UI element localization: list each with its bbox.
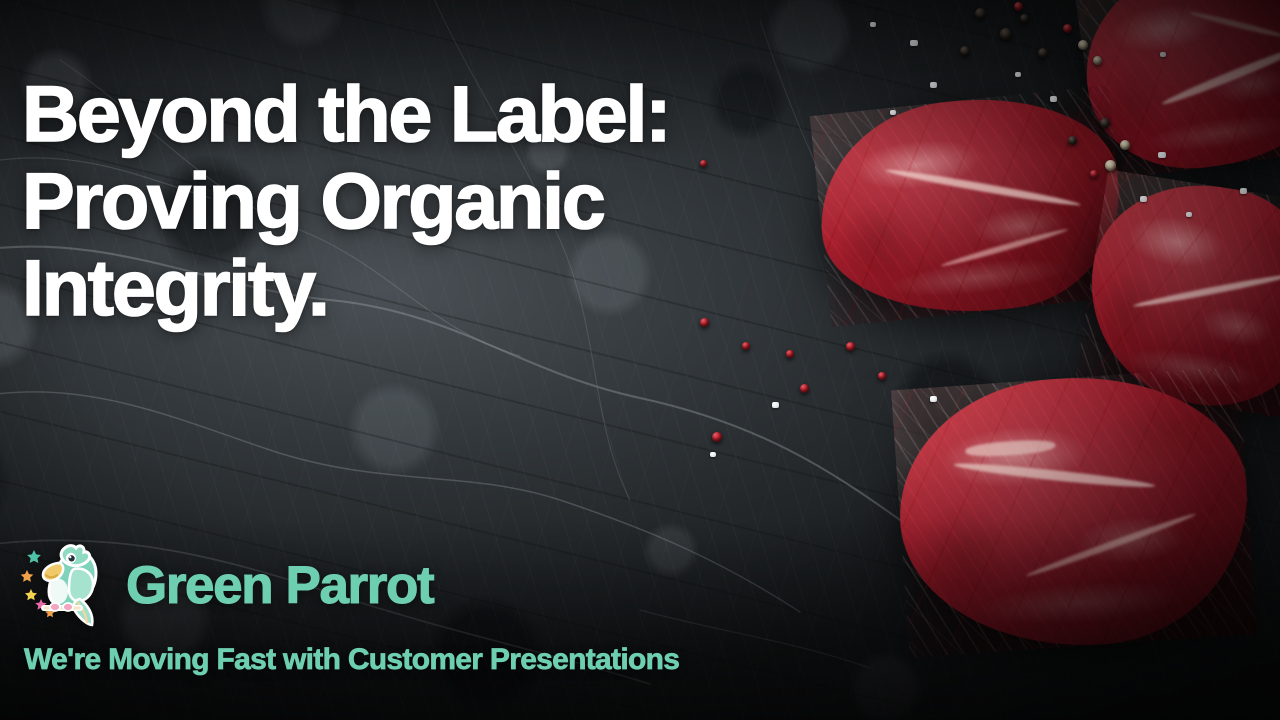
parrot-logo-icon <box>18 537 114 633</box>
tagline: We're Moving Fast with Customer Presenta… <box>24 643 679 677</box>
headline-line-2: Proving Organic <box>22 157 862 244</box>
headline-line-1: Beyond the Label: <box>22 70 862 157</box>
brand-name: Green Parrot <box>126 555 433 616</box>
headline-line-3: Integrity. <box>22 244 862 331</box>
brand-logo-block: Green Parrot <box>18 537 433 633</box>
title-slide: Beyond the Label: Proving Organic Integr… <box>0 0 1280 720</box>
page-title: Beyond the Label: Proving Organic Integr… <box>22 70 862 331</box>
